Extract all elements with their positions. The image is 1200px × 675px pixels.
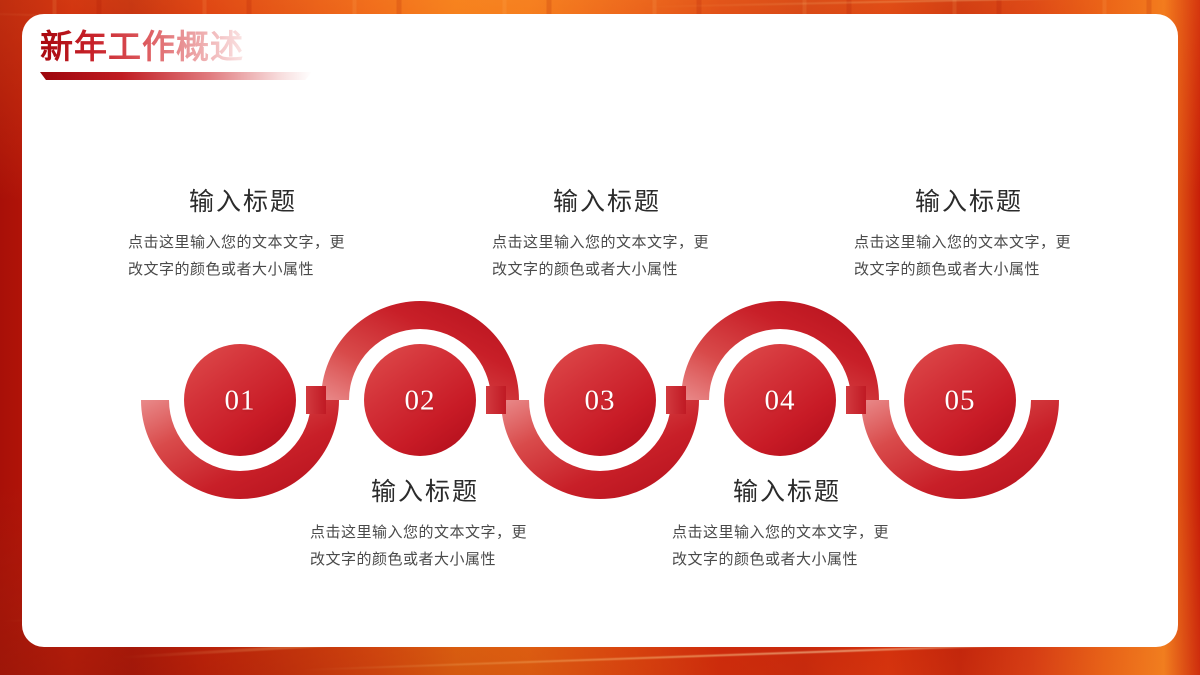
step-text-block-01[interactable]: 输入标题 点击这里输入您的文本文字，更改文字的颜色或者大小属性 bbox=[128, 182, 358, 284]
step-heading-04: 输入标题 bbox=[672, 472, 902, 508]
title-underline bbox=[40, 72, 312, 80]
step-number-05: 05 bbox=[945, 385, 976, 418]
presentation-slide: 新年工作概述 bbox=[0, 0, 1200, 675]
step-text-block-03[interactable]: 输入标题 点击这里输入您的文本文字，更改文字的颜色或者大小属性 bbox=[492, 182, 722, 284]
step-number-02: 02 bbox=[405, 385, 436, 418]
step-body-03: 点击这里输入您的文本文字，更改文字的颜色或者大小属性 bbox=[492, 230, 722, 284]
step-body-05: 点击这里输入您的文本文字，更改文字的颜色或者大小属性 bbox=[854, 230, 1084, 284]
step-heading-05: 输入标题 bbox=[854, 182, 1084, 218]
step-text-block-05[interactable]: 输入标题 点击这里输入您的文本文字，更改文字的颜色或者大小属性 bbox=[854, 182, 1084, 284]
content-card bbox=[22, 14, 1178, 647]
step-text-block-02[interactable]: 输入标题 点击这里输入您的文本文字，更改文字的颜色或者大小属性 bbox=[310, 472, 540, 574]
step-body-04: 点击这里输入您的文本文字，更改文字的颜色或者大小属性 bbox=[672, 520, 902, 574]
step-heading-02: 输入标题 bbox=[310, 472, 540, 508]
step-heading-01: 输入标题 bbox=[128, 182, 358, 218]
page-title-group: 新年工作概述 bbox=[40, 28, 244, 68]
page-title: 新年工作概述 bbox=[40, 28, 244, 68]
step-text-block-04[interactable]: 输入标题 点击这里输入您的文本文字，更改文字的颜色或者大小属性 bbox=[672, 472, 902, 574]
step-body-01: 点击这里输入您的文本文字，更改文字的颜色或者大小属性 bbox=[128, 230, 358, 284]
step-number-04: 04 bbox=[765, 385, 796, 418]
step-number-01: 01 bbox=[225, 385, 256, 418]
step-heading-03: 输入标题 bbox=[492, 182, 722, 218]
step-number-03: 03 bbox=[585, 385, 616, 418]
step-body-02: 点击这里输入您的文本文字，更改文字的颜色或者大小属性 bbox=[310, 520, 540, 574]
